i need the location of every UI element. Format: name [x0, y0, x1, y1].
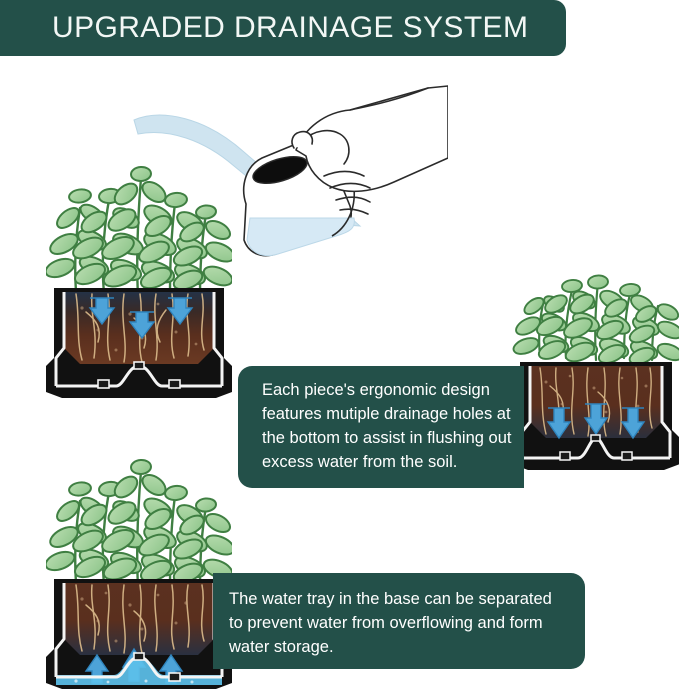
watering-can-scene [128, 78, 448, 263]
callout-2-text: The water tray in the base can be separa… [229, 587, 569, 659]
hand-watering-can-graphic [128, 78, 448, 263]
callout-water-tray: The water tray in the base can be separa… [213, 573, 585, 669]
planter-right [512, 272, 679, 497]
can-water [247, 218, 354, 256]
callout-drainage-holes: Each piece's ergonomic design features m… [238, 366, 524, 488]
callout-1-text: Each piece's ergonomic design features m… [262, 378, 514, 474]
soil-mass [64, 583, 214, 655]
planter-bottom-left-graphic [46, 443, 232, 691]
page-title: UPGRADED DRAINAGE SYSTEM [0, 11, 528, 45]
water-flow-arrows-down [548, 404, 644, 438]
planter-right-graphic [512, 272, 679, 497]
plant-foliage [46, 459, 232, 587]
planter-bottom-left [46, 443, 232, 691]
infographic-canvas: UPGRADED DRAINAGE SYSTEM [0, 0, 679, 690]
plant-foliage [512, 275, 679, 368]
header-banner: UPGRADED DRAINAGE SYSTEM [0, 0, 566, 56]
